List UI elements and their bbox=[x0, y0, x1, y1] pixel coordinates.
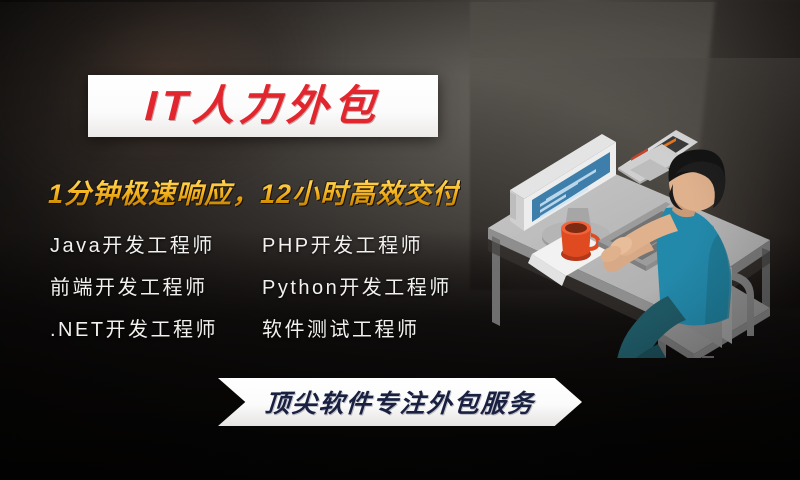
list-item: 软件测试工程师 bbox=[262, 313, 474, 342]
page-title: IT人力外包 bbox=[144, 85, 382, 127]
list-item: PHP开发工程师 bbox=[262, 229, 474, 258]
ribbon-slogan: 顶尖软件专注外包服务 bbox=[264, 384, 537, 420]
title-banner: IT人力外包 bbox=[88, 75, 438, 137]
subtitle-tagline: 1分钟极速响应，12小时高效交付 bbox=[48, 172, 460, 211]
list-item: .NET开发工程师 bbox=[50, 313, 262, 342]
job-list: Java开发工程师 PHP开发工程师 前端开发工程师 Python开发工程师 .… bbox=[50, 222, 490, 348]
ribbon-banner: 顶尖软件专注外包服务 bbox=[218, 378, 582, 426]
developer-at-desk-illustration bbox=[470, 58, 800, 358]
list-item: Python开发工程师 bbox=[262, 271, 474, 300]
poster-root: IT人力外包 1分钟极速响应，12小时高效交付 Java开发工程师 PHP开发工… bbox=[0, 0, 800, 480]
background-top-highlight bbox=[0, 0, 800, 2]
list-item: Java开发工程师 bbox=[50, 229, 262, 258]
list-item: 前端开发工程师 bbox=[50, 271, 262, 300]
